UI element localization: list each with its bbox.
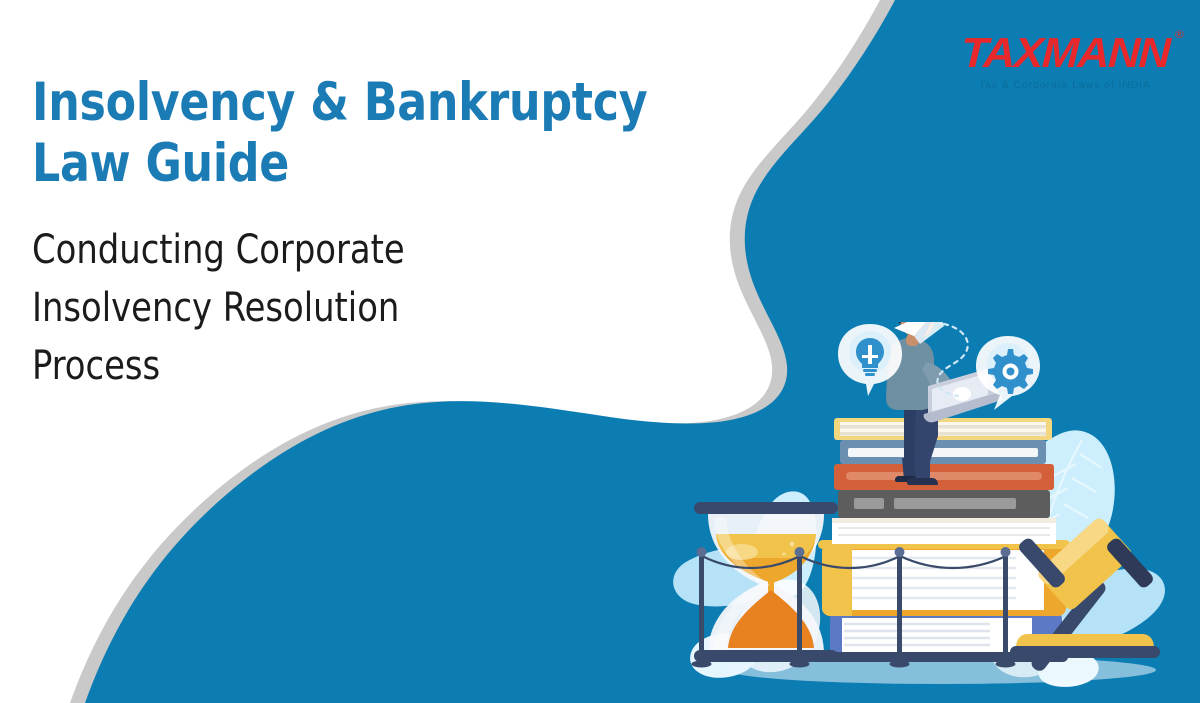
book-rust xyxy=(834,464,1054,490)
book-gray xyxy=(838,490,1050,518)
heading-block: Insolvency & Bankruptcy Law Guide Conduc… xyxy=(32,72,722,395)
person-shoe-front xyxy=(907,478,938,485)
registered-trademark-icon: ® xyxy=(1175,30,1184,41)
logo-wordmark-text: TAXMANN xyxy=(960,29,1170,76)
page-title: Insolvency & Bankruptcy Law Guide xyxy=(32,72,674,195)
hourglass-top-cap xyxy=(694,502,838,514)
book-stack xyxy=(818,418,1070,662)
insolvency-resolution-illustration xyxy=(672,322,1200,703)
banner: Insolvency & Bankruptcy Law Guide Conduc… xyxy=(0,0,1200,703)
book-slate xyxy=(840,440,1046,464)
taxmann-logo[interactable]: TAXMANN ® Tax & Corporate Laws of INDIA xyxy=(960,32,1170,91)
logo-wordmark: TAXMANN ® xyxy=(960,32,1170,74)
logo-tagline: Tax & Corporate Laws of INDIA xyxy=(960,79,1170,91)
book-top-cream xyxy=(834,418,1052,440)
gavel-sound-block xyxy=(1010,634,1160,658)
book-cream xyxy=(832,518,1056,544)
page-subtitle: Conducting Corporate Insolvency Resoluti… xyxy=(32,221,681,395)
hourglass-bottom-cap xyxy=(694,650,838,662)
